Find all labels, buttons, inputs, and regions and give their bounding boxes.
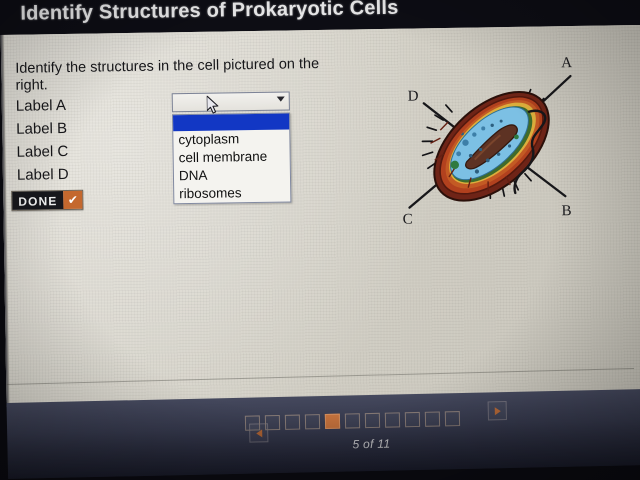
page-step-3[interactable] [285,415,300,430]
page-step-8[interactable] [385,412,400,427]
page-step-11[interactable] [445,411,460,426]
mouse-cursor-icon [207,96,220,115]
page-step-6[interactable] [345,413,360,428]
prev-page-button[interactable] [249,423,268,442]
page-counter: 5 of 11 [352,437,390,452]
label-c-text: Label C [16,143,68,161]
screen-content: Identify Structures of Prokaryotic Cells… [0,0,640,480]
callout-label-d: D [408,88,419,105]
page-step-7[interactable] [365,413,380,428]
dropdown-option-cell-membrane[interactable]: cell membrane [174,147,290,167]
page-step-9[interactable] [405,412,420,427]
page-step-4[interactable] [305,414,320,429]
arrow-left-icon [256,429,262,437]
page-step-indicators [245,411,460,431]
arrow-right-icon [494,407,500,415]
done-button-label: DONE [12,191,63,210]
cell-diagram: A B C D [387,48,602,231]
label-a-text: Label A [16,97,66,115]
page-step-5[interactable] [325,414,340,429]
page-step-2[interactable] [265,415,280,430]
label-d-text: Label D [17,166,69,184]
dropdown-option-ribosomes[interactable]: ribosomes [174,183,290,203]
label-b-text: Label B [16,120,67,138]
callout-label-a: A [561,55,572,72]
page-step-10[interactable] [425,411,440,426]
dropdown-options-list[interactable]: cytoplasm cell membrane DNA ribosomes [172,112,291,204]
dropdown-option-blank[interactable] [173,113,289,131]
chevron-down-icon[interactable] [277,97,285,102]
check-icon: ✔ [63,191,82,209]
next-page-button[interactable] [488,401,507,420]
dropdown-option-cytoplasm[interactable]: cytoplasm [173,129,289,149]
screen-photo: Identify Structures of Prokaryotic Cells… [0,0,640,480]
callout-label-c: C [403,212,413,229]
bottom-navigation-bar: 5 of 11 [7,389,640,479]
callout-label-b: B [561,203,571,220]
question-prompt: Identify the structures in the cell pict… [15,56,345,95]
label-a-select[interactable] [172,91,290,112]
done-button[interactable]: DONE ✔ [11,190,83,211]
page-step-1[interactable] [245,415,260,430]
page-title: Identify Structures of Prokaryotic Cells [20,0,398,26]
dropdown-option-dna[interactable]: DNA [174,165,290,185]
